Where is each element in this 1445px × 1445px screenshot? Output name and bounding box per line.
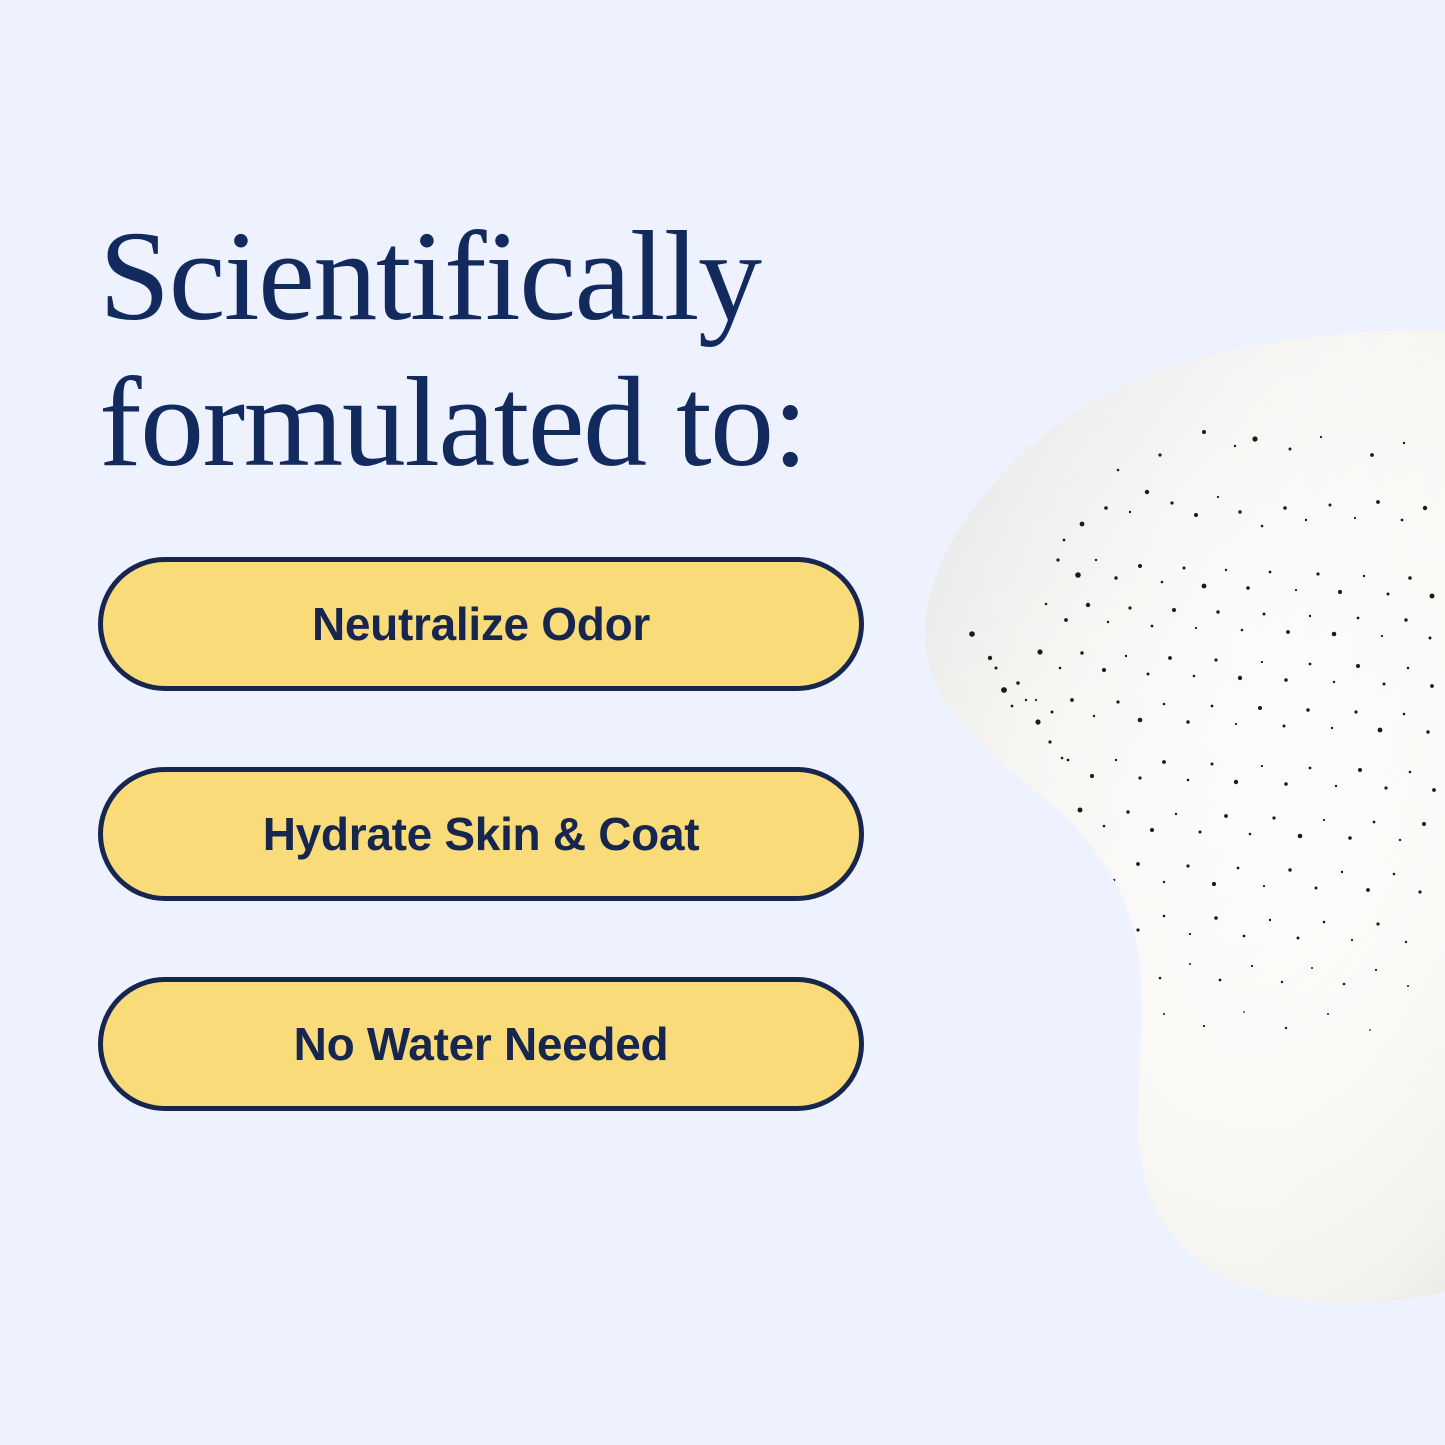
benefit-pill-hydrate-skin-coat[interactable]: Hydrate Skin & Coat [98, 767, 864, 901]
benefit-pill-label: No Water Needed [294, 1021, 669, 1067]
benefit-pill-neutralize-odor[interactable]: Neutralize Odor [98, 557, 864, 691]
benefit-pill-label: Neutralize Odor [312, 601, 650, 647]
benefit-pill-no-water-needed[interactable]: No Water Needed [98, 977, 864, 1111]
page-title: Scientifically formulated to: [99, 204, 929, 496]
benefit-pill-label: Hydrate Skin & Coat [263, 811, 700, 857]
charcoal-speckles [969, 430, 1436, 1031]
blob-body [900, 300, 1445, 1350]
marketing-graphic: Scientifically formulated to: Neutralize… [0, 0, 1445, 1445]
benefit-pill-list: Neutralize Odor Hydrate Skin & Coat No W… [98, 557, 866, 1111]
